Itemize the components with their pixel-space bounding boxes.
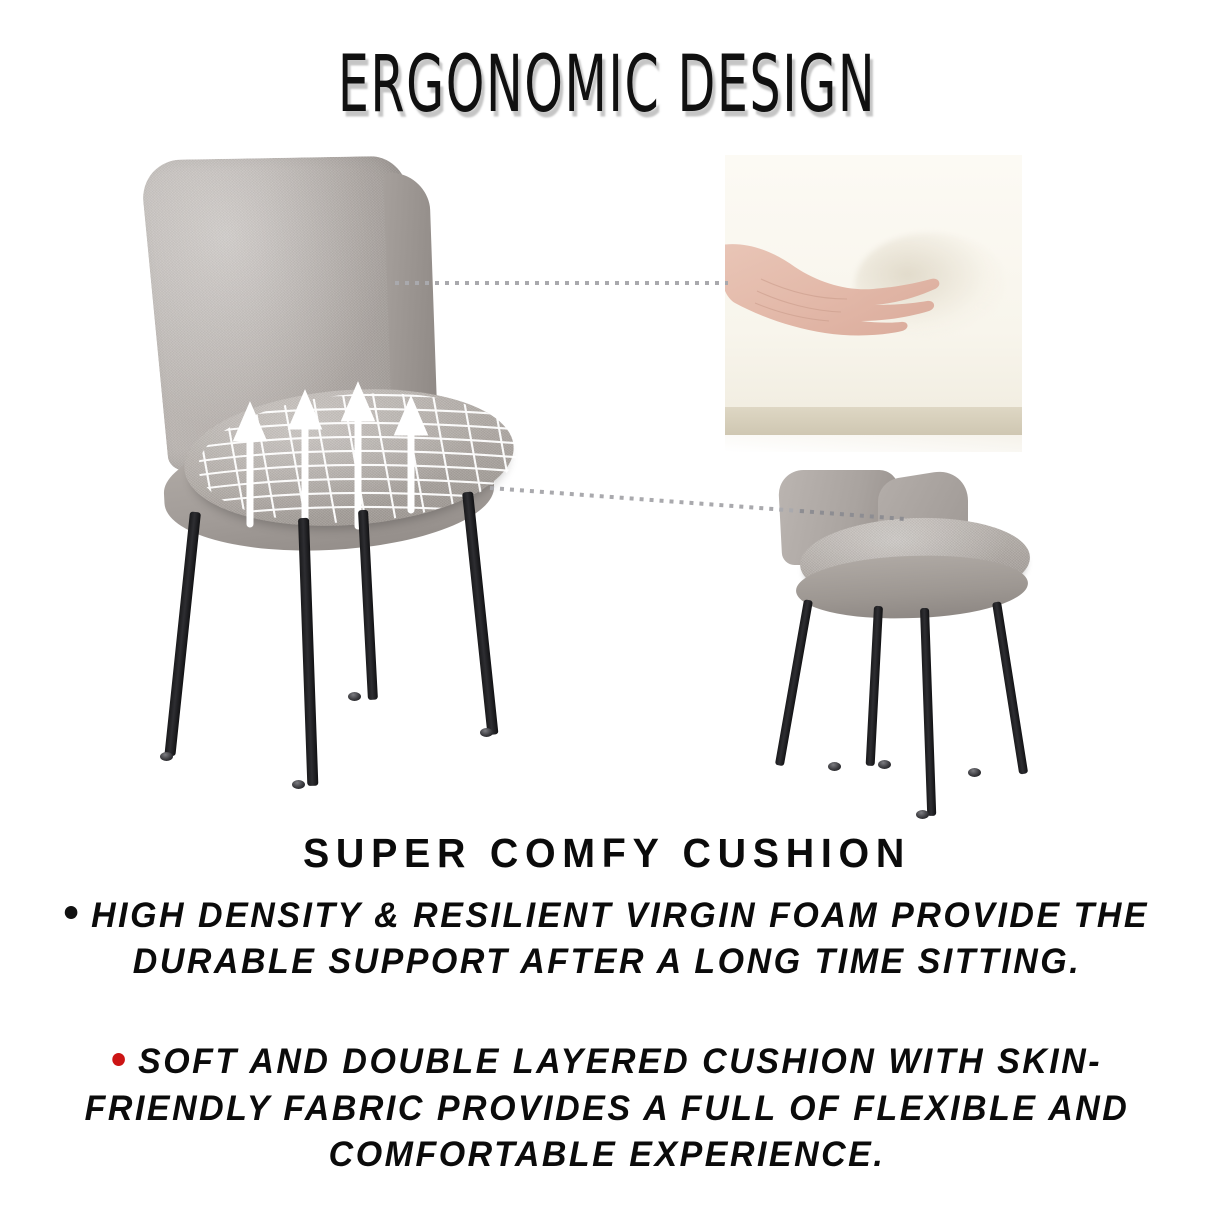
bullet-item: HIGH DENSITY & RESILIENT VIRGIN FOAM PRO… [64, 893, 1150, 985]
connector-line-over-cushion [800, 511, 905, 519]
callout-connectors [0, 130, 1214, 810]
infographic-page: ERGONOMIC DESIGN [0, 0, 1214, 1214]
bullet-dot-icon [65, 906, 78, 919]
bullet-text: HIGH DENSITY & RESILIENT VIRGIN FOAM PRO… [91, 896, 1149, 981]
feature-bullet-list: HIGH DENSITY & RESILIENT VIRGIN FOAM PRO… [0, 893, 1214, 1178]
section-heading: SUPER COMFY CUSHION [24, 830, 1189, 877]
second-chair-foot-mid-right [916, 810, 929, 819]
connector-line-cushion-to-second-chair [490, 488, 800, 511]
bullet-dot-icon [112, 1053, 125, 1066]
bullet-item: SOFT AND DOUBLE LAYERED CUSHION WITH SKI… [64, 1039, 1150, 1178]
bullet-text: SOFT AND DOUBLE LAYERED CUSHION WITH SKI… [85, 1042, 1130, 1173]
product-image-stage [0, 130, 1214, 810]
page-title: ERGONOMIC DESIGN [134, 38, 1081, 130]
